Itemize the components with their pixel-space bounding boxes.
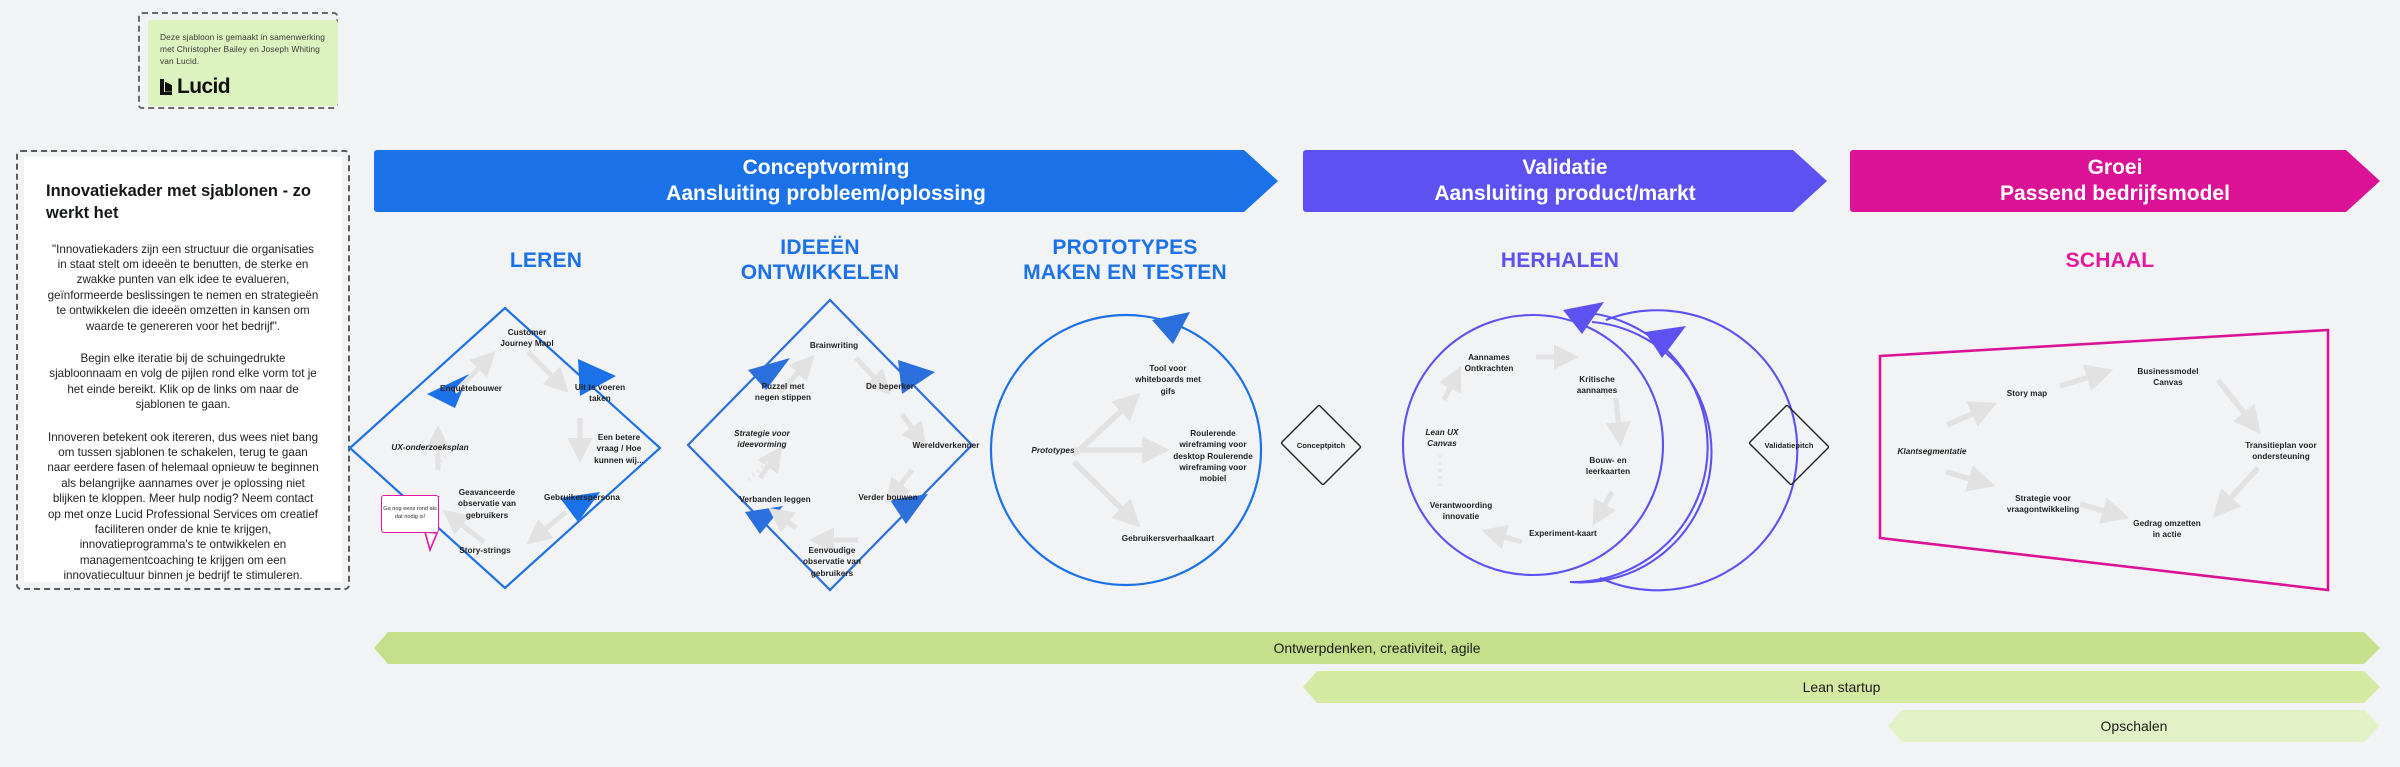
- stage-label-schaal: SCHAAL: [2010, 248, 2210, 273]
- node-leren-enquetebouwer[interactable]: Enquêtebouwer: [435, 383, 507, 394]
- node-leren-customer-journey-map[interactable]: Customer Journey Mapl: [497, 327, 557, 350]
- stage-label-herhalen-line1: HERHALEN: [1450, 248, 1670, 273]
- banner-conceptvorming-line1: Conceptvorming: [666, 155, 986, 181]
- info-panel-paragraph-2: Begin elke iteratie bij de schuingedrukt…: [46, 351, 320, 413]
- node-leren-betere-vraag[interactable]: Een betere vraag / Hoe kunnen wij...: [589, 432, 649, 466]
- stage-label-ideeen: IDEEËN ONTWIKKELEN: [700, 235, 940, 285]
- callout-tail-icon: [425, 532, 437, 550]
- node-leren-gebruikerspersona[interactable]: Gebruikerspersona: [539, 492, 625, 503]
- stage-label-leren: LEREN: [466, 248, 626, 273]
- node-prototypes-wireframing[interactable]: Roulerende wireframing voor desktop Roul…: [1170, 428, 1256, 485]
- callout-bubble: Ga nog eens rond als dat nodig is!: [381, 495, 439, 533]
- banner-validatie-line2: Aansluiting product/markt: [1434, 181, 1695, 207]
- stage-label-herhalen: HERHALEN: [1450, 248, 1670, 273]
- banner-validatie-line1: Validatie: [1434, 155, 1695, 181]
- node-ideeen-wereldverkenner[interactable]: Wereldverkenner: [903, 440, 989, 451]
- node-schaal-gedrag-omzetten[interactable]: Gedrag omzetten in actie: [2131, 518, 2203, 541]
- node-herhalen-kritische-aannames[interactable]: Kritische aannames: [1561, 374, 1633, 397]
- node-leren-story-strings[interactable]: Story-strings: [455, 545, 515, 556]
- node-ideeen-verder-bouwen[interactable]: Verder bouwen: [858, 492, 918, 503]
- stage-label-prototypes: PROTOTYPES MAKEN EN TESTEN: [985, 235, 1265, 285]
- info-panel-title: Innovatiekader met sjablonen - zo werkt …: [46, 181, 320, 225]
- bar-opschalen-label: Opschalen: [2101, 718, 2168, 734]
- node-schaal-start[interactable]: Klantsegmentatie: [1889, 446, 1975, 457]
- pitch-validatiepitch[interactable]: Validatiepitch: [1746, 406, 1832, 484]
- lucid-credit-text: Deze sjabloon is gemaakt in samenwerking…: [160, 31, 326, 68]
- node-prototypes-whiteboard-tool[interactable]: Tool voor whiteboards met gifs: [1132, 363, 1204, 397]
- stage-label-ideeen-line2: ONTWIKKELEN: [700, 260, 940, 285]
- banner-conceptvorming[interactable]: Conceptvorming Aansluiting probleem/oplo…: [374, 150, 1278, 212]
- validatiepitch-label: Validatiepitch: [1765, 441, 1814, 450]
- node-ideeen-puzzel-negen-stippen[interactable]: Puzzel met negen stippen: [753, 381, 813, 404]
- stage-label-leren-line1: LEREN: [466, 248, 626, 273]
- bar-lean-startup-label: Lean startup: [1803, 679, 1881, 695]
- node-ideeen-brainwriting[interactable]: Brainwriting: [798, 340, 870, 351]
- node-herhalen-verantwoording-innovatie[interactable]: Verantwoording innovatie: [1418, 500, 1504, 523]
- lucid-mark-icon: [160, 79, 173, 95]
- stage-label-schaal-line1: SCHAAL: [2010, 248, 2210, 273]
- pitch-conceptpitch[interactable]: Conceptpitch: [1278, 406, 1364, 484]
- banner-conceptvorming-line2: Aansluiting probleem/oplossing: [666, 181, 986, 207]
- node-herhalen-experimentkaart[interactable]: Experiment-kaart: [1527, 528, 1599, 539]
- stage-label-prototypes-line2: MAKEN EN TESTEN: [985, 260, 1265, 285]
- banner-groei-line2: Passend bedrijfsmodel: [2000, 181, 2230, 207]
- node-leren-start[interactable]: UX-onderzoeksplan: [387, 442, 473, 453]
- node-schaal-story-map[interactable]: Story map: [1997, 388, 2057, 399]
- node-leren-geavanceerde-observatie[interactable]: Geavanceerde observatie van gebruikers: [444, 487, 530, 521]
- banner-groei-line1: Groei: [2000, 155, 2230, 181]
- node-ideeen-start[interactable]: Strategie voor ideevorming: [732, 428, 792, 451]
- node-ideeen-verbanden-leggen[interactable]: Verbanden leggen: [739, 494, 811, 505]
- node-prototypes-gebruikersverhaalkaart[interactable]: Gebruikersverhaalkaart: [1118, 533, 1218, 544]
- bar-ontwerpdenken[interactable]: Ontwerpdenken, creativiteit, agile: [374, 632, 2380, 664]
- lucid-wordmark: Lucid: [177, 75, 230, 99]
- banner-validatie[interactable]: Validatie Aansluiting product/markt: [1303, 150, 1827, 212]
- node-herhalen-aannames-ontkrachten[interactable]: Aannames Ontkrachten: [1453, 352, 1525, 375]
- node-herhalen-bouw-leerkaarten[interactable]: Bouw- en leerkaarten: [1572, 455, 1644, 478]
- stage-label-ideeen-line1: IDEEËN: [700, 235, 940, 260]
- bar-opschalen[interactable]: Opschalen: [1888, 710, 2380, 742]
- node-ideeen-de-beperker[interactable]: De beperker: [854, 381, 926, 392]
- bar-ontwerpdenken-label: Ontwerpdenken, creativiteit, agile: [1274, 640, 1481, 656]
- node-prototypes-start[interactable]: Prototypes: [1017, 445, 1089, 456]
- node-schaal-transitieplan[interactable]: Transitieplan voor ondersteuning: [2238, 440, 2324, 463]
- node-ideeen-eenvoudige-observatie[interactable]: Eenvoudige observatie van gebruikers: [789, 545, 875, 579]
- node-schaal-strategie-vraagontwikkeling[interactable]: Strategie voor vraagontwikkeling: [2000, 493, 2086, 516]
- lucid-logo: Lucid: [160, 75, 326, 99]
- node-leren-uit-te-voeren-taken[interactable]: Uit te voeren taken: [570, 382, 630, 405]
- lucid-credit-card: Deze sjabloon is gemaakt in samenwerking…: [148, 20, 338, 106]
- diagram-canvas: Deze sjabloon is gemaakt in samenwerking…: [0, 0, 2400, 767]
- bar-lean-startup[interactable]: Lean startup: [1303, 671, 2380, 703]
- info-panel-paragraph-3: Innoveren betekent ook itereren, dus wee…: [46, 430, 320, 584]
- node-herhalen-start[interactable]: Lean UX Canvas: [1412, 427, 1472, 450]
- node-schaal-businessmodel-canvas[interactable]: Businessmodel Canvas: [2125, 366, 2211, 389]
- callout-text: Ga nog eens rond als dat nodig is!: [382, 506, 438, 521]
- info-panel: Innovatiekader met sjablonen - zo werkt …: [24, 157, 342, 582]
- conceptpitch-label: Conceptpitch: [1297, 441, 1346, 450]
- banner-groei[interactable]: Groei Passend bedrijfsmodel: [1850, 150, 2380, 212]
- info-panel-paragraph-1: "Innovatiekaders zijn een structuur die …: [46, 242, 320, 334]
- stage-label-prototypes-line1: PROTOTYPES: [985, 235, 1265, 260]
